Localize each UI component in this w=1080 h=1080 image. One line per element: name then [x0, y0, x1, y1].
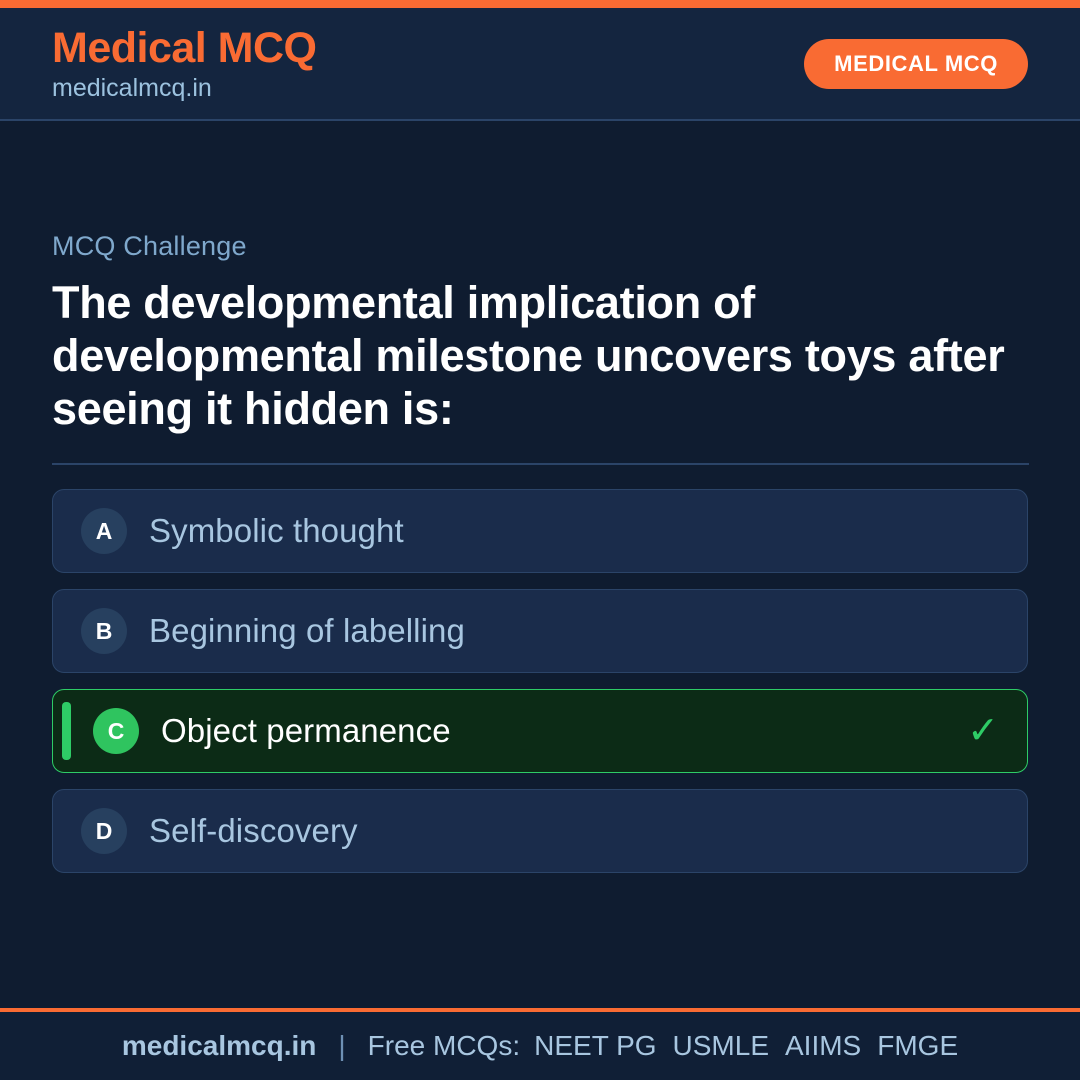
correct-accent-bar [62, 702, 71, 760]
option-b-text: Beginning of labelling [149, 612, 465, 650]
question-divider [52, 463, 1029, 465]
option-a-letter: A [81, 508, 127, 554]
brand-subtitle: medicalmcq.in [52, 76, 317, 101]
question-text: The developmental implication of develop… [52, 276, 1028, 435]
options-list: A Symbolic thought ✓ B Beginning of labe… [52, 489, 1028, 873]
check-icon: ✓ [967, 712, 999, 750]
header-badge[interactable]: MEDICAL MCQ [804, 39, 1028, 89]
footer-text: medicalmcq.in | Free MCQs: NEET PG USMLE… [122, 1030, 958, 1062]
footer-exam-neet-pg[interactable]: NEET PG [534, 1030, 656, 1062]
option-b[interactable]: B Beginning of labelling ✓ [52, 589, 1028, 673]
top-accent-bar [0, 0, 1080, 8]
main-content: MCQ Challenge The developmental implicat… [0, 121, 1080, 1008]
option-a-text: Symbolic thought [149, 512, 404, 550]
footer-label: Free MCQs: [368, 1030, 520, 1062]
option-d[interactable]: D Self-discovery ✓ [52, 789, 1028, 873]
footer-site[interactable]: medicalmcq.in [122, 1030, 317, 1062]
option-d-letter: D [81, 808, 127, 854]
footer-exam-usmle[interactable]: USMLE [673, 1030, 769, 1062]
footer-separator: | [338, 1030, 345, 1062]
footer-exam-aiims[interactable]: AIIMS [785, 1030, 861, 1062]
option-c-letter: C [93, 708, 139, 754]
mcq-card: Medical MCQ medicalmcq.in MEDICAL MCQ MC… [0, 0, 1080, 1080]
option-a[interactable]: A Symbolic thought ✓ [52, 489, 1028, 573]
brand: Medical MCQ medicalmcq.in [52, 27, 317, 101]
option-b-letter: B [81, 608, 127, 654]
option-d-text: Self-discovery [149, 812, 358, 850]
footer: medicalmcq.in | Free MCQs: NEET PG USMLE… [0, 1008, 1080, 1080]
eyebrow-label: MCQ Challenge [52, 231, 1028, 262]
header: Medical MCQ medicalmcq.in MEDICAL MCQ [0, 8, 1080, 121]
option-c-text: Object permanence [161, 712, 451, 750]
option-c[interactable]: C Object permanence ✓ [52, 689, 1028, 773]
brand-title: Medical MCQ [52, 27, 317, 70]
footer-exam-fmge[interactable]: FMGE [877, 1030, 958, 1062]
